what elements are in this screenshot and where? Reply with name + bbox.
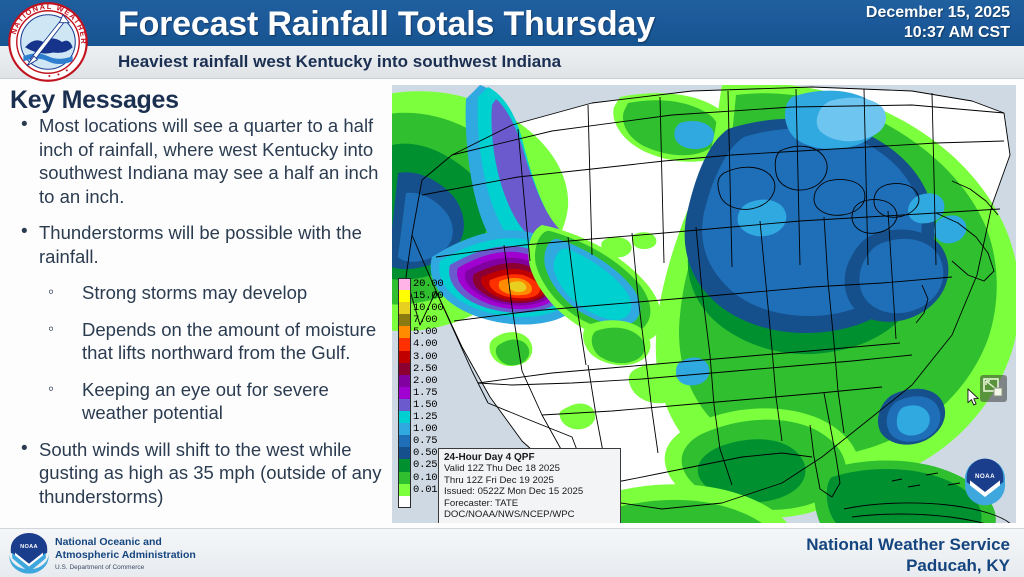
legend-label: 4.00 <box>413 338 437 350</box>
noaa-logo-icon: NOAA <box>960 457 1010 507</box>
national-weather-service-seal-icon: NATIONAL WEATHER SERVICE • • • <box>4 0 92 86</box>
weather-office-name: National Weather Service Paducah, KY <box>806 534 1010 576</box>
key-messages-list: Most locations will see a quarter to a h… <box>14 114 392 521</box>
legend-row: 1.50 <box>398 399 444 411</box>
legend-label: 1.50 <box>413 399 437 411</box>
legend-label: 0.50 <box>413 447 437 459</box>
legend-row: 2.00 <box>398 375 444 387</box>
legend-swatch <box>398 399 411 411</box>
office-line-2: Paducah, KY <box>806 555 1010 576</box>
legend-swatch <box>398 496 411 508</box>
legend-swatch <box>398 302 411 314</box>
legend-row: 2.50 <box>398 363 444 375</box>
legend-swatch <box>398 375 411 387</box>
legend-swatch <box>398 278 411 290</box>
legend-swatch <box>398 387 411 399</box>
legend-label: 10.00 <box>413 302 444 314</box>
legend-label: 0.75 <box>413 435 437 447</box>
slide-root: NATIONAL WEATHER SERVICE • • • Forecast … <box>0 0 1024 577</box>
legend-row: 5.00 <box>398 326 444 338</box>
footer-bar: NOAA National Oceanic and Atmospheric Ad… <box>0 528 1024 577</box>
header-date: December 15, 2025 <box>866 3 1010 23</box>
legend-row: 0.50 <box>398 447 444 459</box>
legend-swatch <box>398 314 411 326</box>
legend-row: 7.00 <box>398 314 444 326</box>
legend-label: 2.00 <box>413 375 437 387</box>
legend-row: 0.75 <box>398 435 444 447</box>
svg-text:NOAA: NOAA <box>20 544 38 550</box>
info-box-line: Valid 12Z Thu Dec 18 2025 <box>444 463 616 474</box>
header-datetime: December 15, 2025 10:37 AM CST <box>866 3 1010 43</box>
subtitle-text: Heaviest rainfall west Kentucky into sou… <box>118 46 561 78</box>
legend-swatch <box>398 484 411 496</box>
legend-row: 1.00 <box>398 423 444 435</box>
legend-row: 10.00 <box>398 302 444 314</box>
key-message-subitem: Strong storms may develop <box>14 281 392 305</box>
legend-label: 20.00 <box>413 278 444 290</box>
legend-row: 0.10 <box>398 472 444 484</box>
noaa-line-1: National Oceanic and <box>55 536 196 549</box>
precipitation-legend: 20.00 15.00 10.00 7.00 5.00 4.00 3.00 2.… <box>398 278 444 508</box>
info-box-line: DOC/NOAA/NWS/NCEP/WPC <box>444 509 616 520</box>
legend-label: 0.25 <box>413 459 437 471</box>
legend-row: 0.25 <box>398 459 444 471</box>
key-message-item: Most locations will see a quarter to a h… <box>14 114 392 208</box>
info-box-line: Issued: 0522Z Mon Dec 15 2025 <box>444 486 616 497</box>
legend-swatch <box>398 338 411 350</box>
legend-row: 20.00 <box>398 278 444 290</box>
info-box-title: 24-Hour Day 4 QPF <box>444 452 616 463</box>
legend-row: 0.01 <box>398 484 444 496</box>
key-message-item: Thunderstorms will be possible with the … <box>14 221 392 268</box>
key-message-subitem: Keeping an eye out for severe weather po… <box>14 378 392 425</box>
legend-row: 1.25 <box>398 411 444 423</box>
legend-label: 3.00 <box>413 351 437 363</box>
noaa-logo-icon: NOAA <box>8 533 50 575</box>
legend-row <box>398 496 444 508</box>
legend-swatch <box>398 459 411 471</box>
noaa-line-3: U.S. Department of Commerce <box>55 562 196 573</box>
legend-row: 15.00 <box>398 290 444 302</box>
key-message-item: South winds will shift to the west while… <box>14 438 392 509</box>
legend-label: 15.00 <box>413 290 444 302</box>
legend-row: 1.75 <box>398 387 444 399</box>
legend-row: 3.00 <box>398 351 444 363</box>
noaa-line-2: Atmospheric Administration <box>55 549 196 562</box>
legend-swatch <box>398 326 411 338</box>
noaa-agency-name: National Oceanic and Atmospheric Adminis… <box>55 536 196 573</box>
key-message-subitem: Depends on the amount of moisture that l… <box>14 318 392 365</box>
legend-label: 1.75 <box>413 387 437 399</box>
legend-swatch <box>398 363 411 375</box>
legend-label: 1.00 <box>413 423 437 435</box>
legend-label: 7.00 <box>413 314 437 326</box>
qpf-precipitation-map[interactable]: 20.00 15.00 10.00 7.00 5.00 4.00 3.00 2.… <box>392 85 1016 523</box>
legend-swatch <box>398 351 411 363</box>
resize-window-icon[interactable] <box>980 375 1007 402</box>
legend-swatch <box>398 290 411 302</box>
mouse-pointer-icon <box>967 388 981 412</box>
key-messages-heading: Key Messages <box>10 86 179 115</box>
info-box-line: Thru 12Z Fri Dec 19 2025 <box>444 475 616 486</box>
legend-swatch <box>398 411 411 423</box>
page-title: Forecast Rainfall Totals Thursday <box>118 2 758 46</box>
legend-label: 0.10 <box>413 472 437 484</box>
legend-swatch <box>398 472 411 484</box>
legend-row: 4.00 <box>398 338 444 350</box>
legend-label: 0.01 <box>413 484 437 496</box>
office-line-1: National Weather Service <box>806 534 1010 555</box>
legend-swatch <box>398 435 411 447</box>
svg-text:NOAA: NOAA <box>975 473 995 480</box>
legend-label: 1.25 <box>413 411 437 423</box>
legend-swatch <box>398 447 411 459</box>
info-box-line: Forecaster: TATE <box>444 498 616 509</box>
legend-label: 2.50 <box>413 363 437 375</box>
legend-swatch <box>398 423 411 435</box>
legend-label: 5.00 <box>413 326 437 338</box>
map-info-box: 24-Hour Day 4 QPF Valid 12Z Thu Dec 18 2… <box>438 448 621 523</box>
header-time: 10:37 AM CST <box>866 23 1010 43</box>
